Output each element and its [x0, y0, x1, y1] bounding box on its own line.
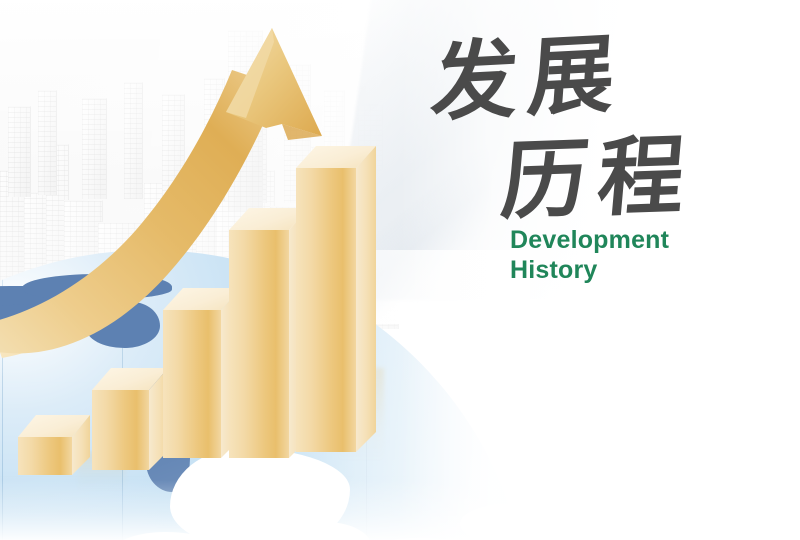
english-subtitle-line-1: Development [510, 226, 669, 254]
calligraphy-line-1: 发展 [428, 31, 627, 127]
english-subtitle: Development History [510, 225, 669, 285]
title-block: 发展 历程 Development History [424, 18, 754, 288]
english-subtitle-line-2: History [510, 255, 669, 285]
bar-5-side-face [356, 146, 376, 452]
bar-2-front-face [92, 390, 149, 470]
bottom-fade-veil [0, 480, 800, 540]
calligraphy-line-2: 历程 [498, 133, 698, 226]
growth-arrow [0, 8, 340, 358]
bar-1-front-face [18, 437, 72, 475]
banner-canvas: 发展 历程 Development History [0, 0, 800, 540]
